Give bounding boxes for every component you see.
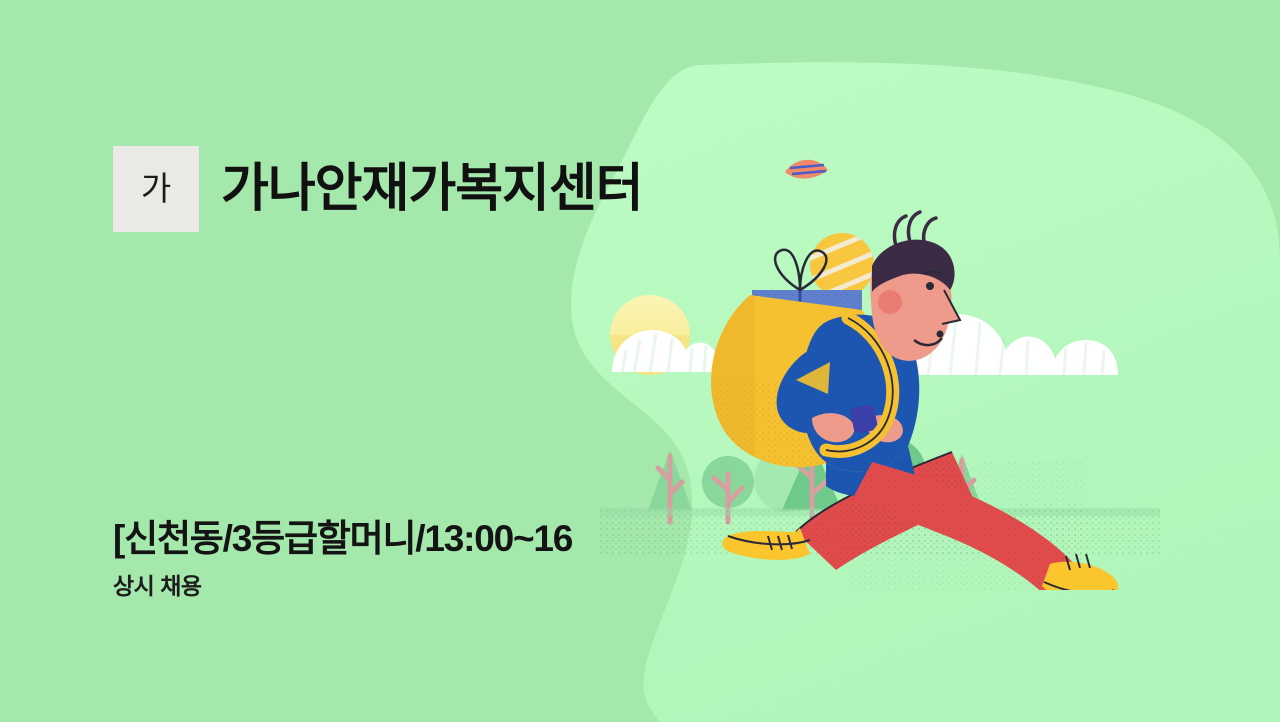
job-summary: [신천동/3등급할머니/13:00~16 상시 채용 <box>113 518 572 598</box>
job-posting-card: 가 가나안재가복지센터 [신천동/3등급할머니/13:00~16 상시 채용 <box>0 0 1280 722</box>
hiring-type-label: 상시 채용 <box>113 575 572 598</box>
company-header: 가 가나안재가복지센터 <box>113 128 643 250</box>
job-title: [신천동/3등급할머니/13:00~16 <box>113 518 572 561</box>
company-initial-text: 가 <box>141 172 171 205</box>
company-name: 가나안재가복지센터 <box>221 163 643 215</box>
running-delivery-man-illustration <box>600 150 1160 590</box>
company-initial-badge: 가 <box>113 146 199 232</box>
confetti <box>785 160 828 179</box>
